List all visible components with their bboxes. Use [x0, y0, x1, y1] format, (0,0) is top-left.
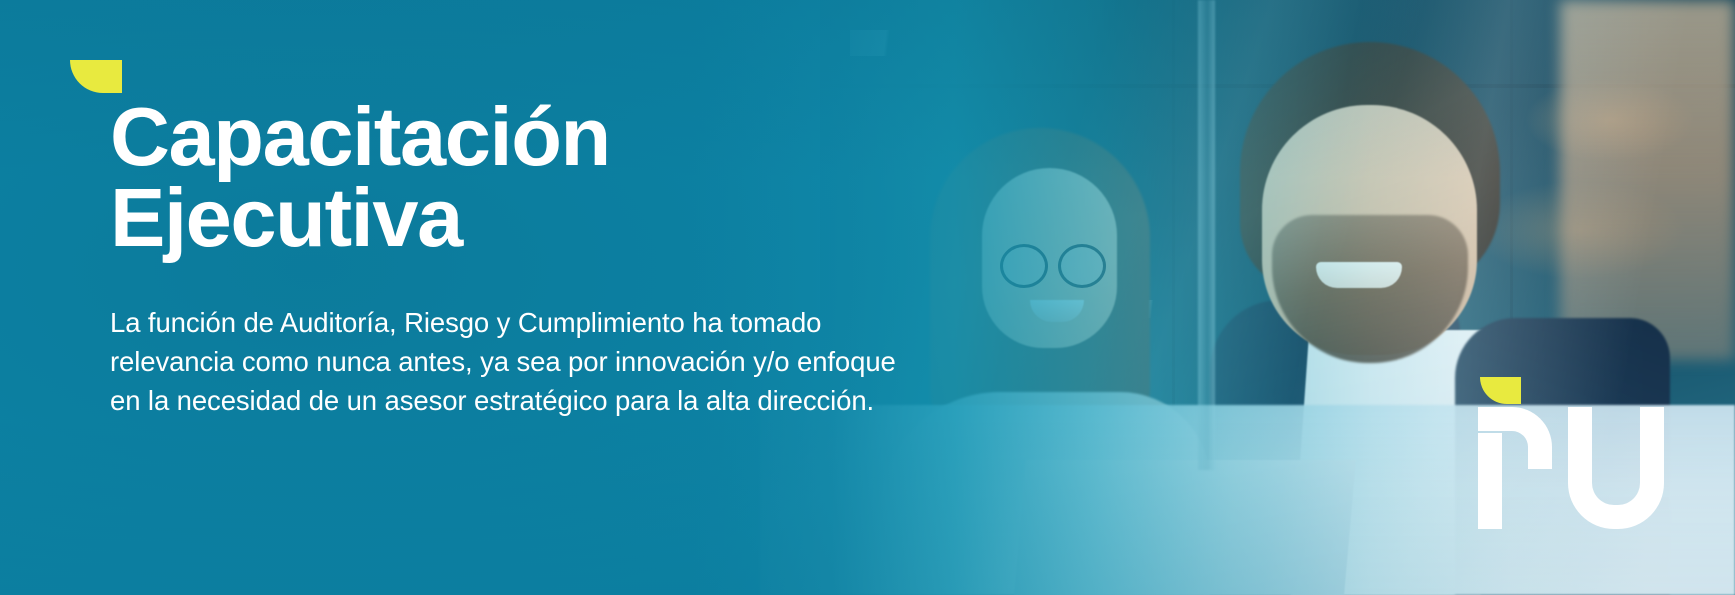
- photo-person-background: [1560, 0, 1735, 360]
- logo-letter-u-icon: [1568, 407, 1664, 529]
- hero-banner: Dos profesionales sonriendo frente a una…: [0, 0, 1735, 595]
- page-title: Capacitación Ejecutiva: [110, 96, 1030, 259]
- logo-wordmark-text: ru: [1472, 373, 1473, 374]
- photo-alt-text: Dos profesionales sonriendo frente a una…: [0, 0, 1, 1]
- photo-man-smile: [1316, 262, 1402, 288]
- hero-copy: Capacitación Ejecutiva La función de Aud…: [110, 96, 1030, 420]
- photo-laptop: [1014, 460, 1356, 595]
- logo-yellow-half-disc-icon: [1480, 377, 1521, 404]
- ru-logo[interactable]: ru: [1472, 373, 1677, 533]
- logo-letter-r-icon: [1478, 407, 1552, 529]
- glasses-lens-right: [1058, 244, 1106, 288]
- photo-glass-mullion: [1198, 0, 1215, 470]
- hero-description: La función de Auditoría, Riesgo y Cumpli…: [110, 259, 1030, 420]
